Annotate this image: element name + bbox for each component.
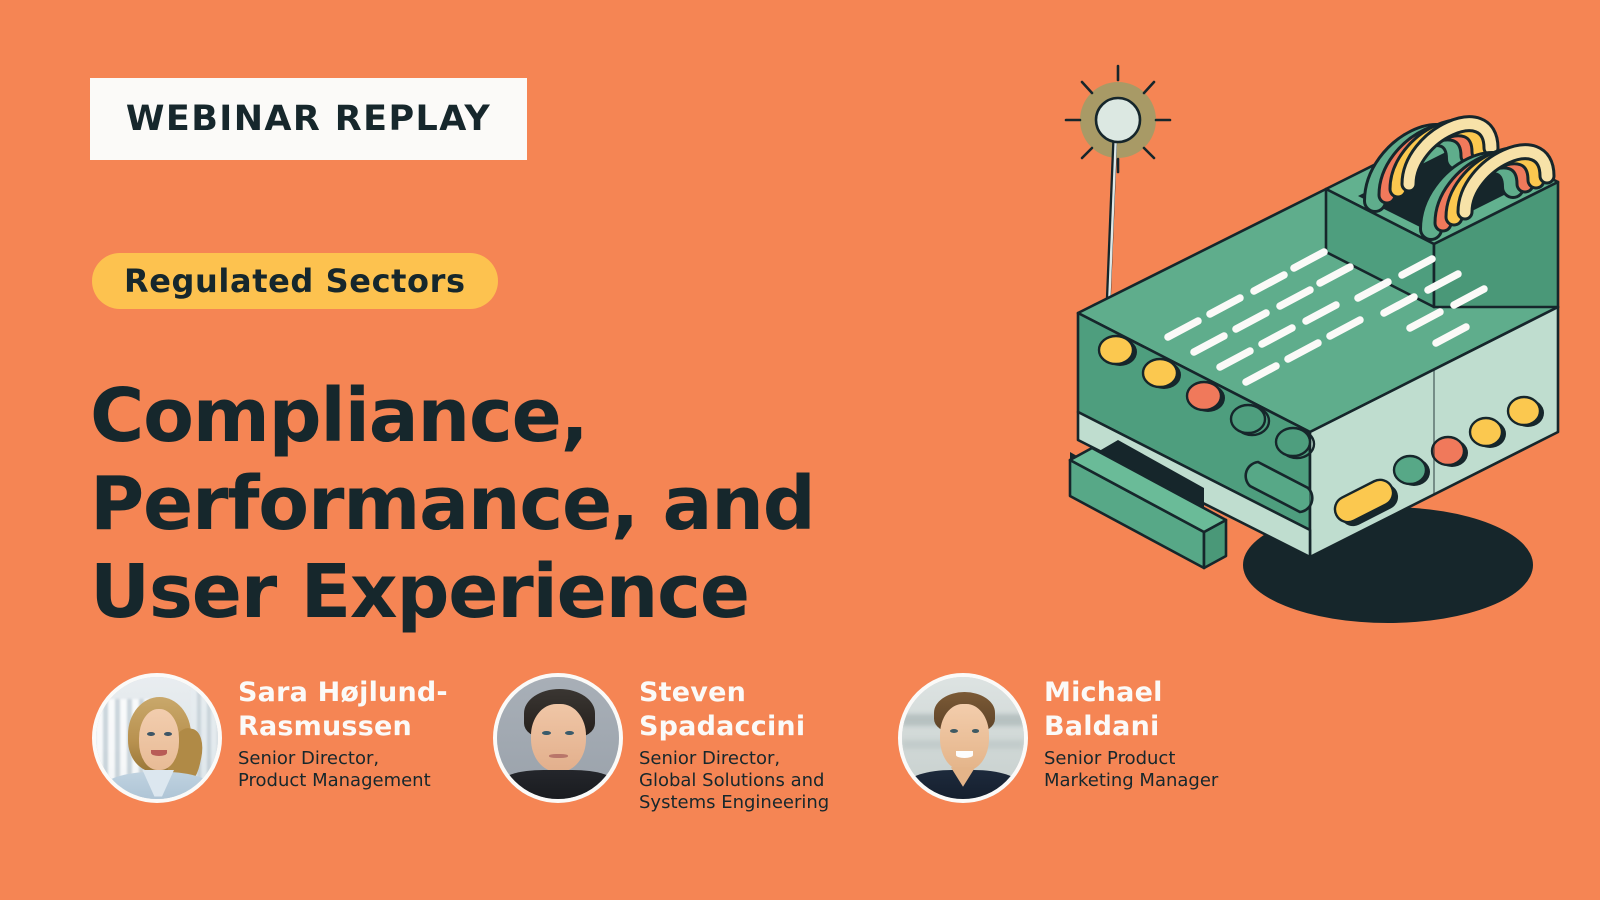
webinar-replay-poster: WEBINAR REPLAY Regulated Sectors Complia… (0, 0, 1600, 900)
content-column: WEBINAR REPLAY Regulated Sectors Complia… (90, 0, 970, 900)
speaker-item: Steven Spadaccini Senior Director, Globa… (493, 668, 829, 814)
speaker-title: Senior Director, Global Solutions and Sy… (639, 748, 829, 814)
isometric-server-machine-illustration (1058, 60, 1578, 680)
speaker-list: Sara Højlund- Rasmussen Senior Director,… (90, 668, 1350, 818)
button-empty-2 (1276, 428, 1314, 458)
speaker-name: Steven Spadaccini (639, 676, 829, 744)
avatar-michael-baldani (898, 673, 1028, 803)
speaker-item: Sara Højlund- Rasmussen Senior Director,… (92, 668, 448, 803)
speaker-item: Michael Baldani Senior Product Marketing… (898, 668, 1218, 803)
speaker-name: Michael Baldani (1044, 676, 1218, 744)
topic-pill: Regulated Sectors (92, 253, 498, 309)
speaker-text: Sara Højlund- Rasmussen Senior Director,… (238, 668, 448, 792)
speaker-name: Sara Højlund- Rasmussen (238, 676, 448, 744)
speaker-title: Senior Product Marketing Manager (1044, 748, 1218, 792)
avatar-steven-spadaccini (493, 673, 623, 803)
headline-line-1: Compliance, (90, 372, 910, 460)
page-title: Compliance, Performance, and User Experi… (90, 372, 910, 636)
headline-line-3: User Experience (90, 548, 910, 636)
avatar-sara-hojlund-rasmussen (92, 673, 222, 803)
webinar-replay-badge: WEBINAR REPLAY (90, 78, 527, 160)
speaker-text: Michael Baldani Senior Product Marketing… (1044, 668, 1218, 792)
headline-line-2: Performance, and (90, 460, 910, 548)
topic-pill-label: Regulated Sectors (124, 265, 466, 297)
webinar-replay-badge-label: WEBINAR REPLAY (126, 102, 491, 137)
speaker-text: Steven Spadaccini Senior Director, Globa… (639, 668, 829, 814)
speaker-title: Senior Director, Product Management (238, 748, 448, 792)
button-empty-1 (1231, 405, 1269, 435)
